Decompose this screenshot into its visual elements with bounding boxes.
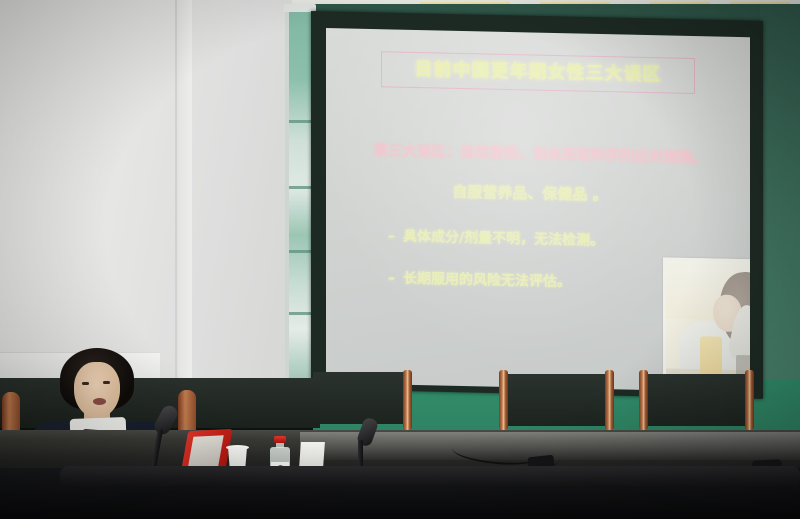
water-bottle-cap [274,436,286,443]
chair-post-5 [745,370,754,430]
presenter-mouth [93,398,106,405]
presenter-face [74,362,120,418]
slide-title: 目前中国更年期女性三大误区 [415,61,662,84]
glass-mullion-4 [289,312,313,315]
slide-lead-line: 第三大误区：虽然重视，但未采取科学的应对措施。 [340,138,740,168]
inset-photo-projection-wash [666,260,750,387]
glass-mullion-1 [289,120,313,123]
slide-bullet-1: –具体成分/剂量不明，无法检测。 [388,225,604,250]
slide-inset-photo [663,257,750,391]
glass-mullion-3 [289,250,313,253]
chair-post-1 [403,370,412,430]
chair-post-2 [499,370,508,430]
slide-bullet-2-text: 长期服用的风险无法评估。 [403,271,571,291]
conference-presentation-photo: 目前中国更年期女性三大误区 第三大误区：虽然重视，但未采取科学的应对措施。 自服… [0,0,800,519]
presenter-eye-right [103,381,110,384]
presenter-eye-left [82,382,89,385]
glass-mullion-2 [289,186,313,189]
slide-title-box: 目前中国更年期女性三大误区 [381,51,695,94]
chair-back-3 [643,374,748,426]
bullet-dash-icon: – [388,270,395,286]
slide-bullet-1-text: 具体成分/剂量不明，无法检测。 [403,229,604,249]
chair-post-4 [639,370,648,430]
table-front-rail [60,466,800,488]
left-wall [0,0,292,400]
slide-bullet-2: –长期服用的风险无法评估。 [388,267,571,291]
slide-sub-line: 自服营养品、保健品 。 [340,178,720,207]
left-wall-panel [178,0,192,400]
chair-post-3 [605,370,614,430]
bullet-dash-icon: – [388,228,395,244]
left-wall-seam [175,0,177,400]
slide: 目前中国更年期女性三大误区 第三大误区：虽然重视，但未采取科学的应对措施。 自服… [326,28,750,392]
chair-back-2 [503,374,608,426]
glass-panel [289,8,313,400]
chair-back-1 [313,372,405,424]
name-card [299,442,325,468]
projection-screen: 目前中国更年期女性三大误区 第三大误区：虽然重视，但未采取科学的应对措施。 自服… [326,28,750,392]
